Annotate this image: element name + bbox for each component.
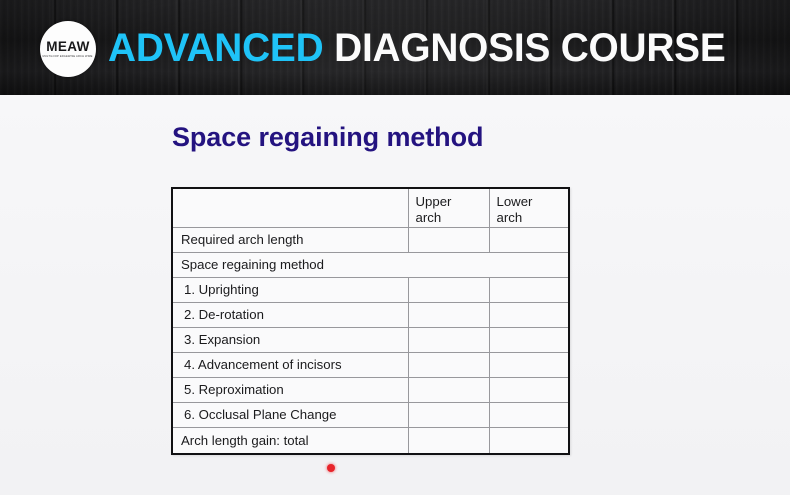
row-label: 3. Expansion: [173, 330, 408, 350]
row-label-cell: Arch length gain: total: [173, 428, 408, 453]
banner-title-accent: ADVANCED: [108, 26, 323, 71]
page-title: Space regaining method: [172, 122, 483, 153]
table-row: 1. Uprighting: [173, 278, 568, 303]
table-row: 5. Reproximation: [173, 378, 568, 403]
row-label: 1. Uprighting: [173, 280, 408, 300]
row-cell-upper-arch[interactable]: [408, 378, 489, 403]
row-label: Required arch length: [173, 230, 408, 250]
cell-value: [490, 438, 569, 442]
column-header-upper-arch: Upper arch: [408, 189, 489, 228]
cell-value: [490, 238, 569, 242]
cell-value: [409, 438, 489, 442]
row-label: Space regaining method: [173, 255, 568, 275]
cell-value: [409, 238, 489, 242]
row-label-cell: 3. Expansion: [173, 328, 408, 353]
row-cell-lower-arch[interactable]: [489, 353, 568, 378]
table-row: Arch length gain: total: [173, 428, 568, 453]
table-row: Space regaining method: [173, 253, 568, 278]
row-label-cell: 1. Uprighting: [173, 278, 408, 303]
row-label: Arch length gain: total: [173, 431, 408, 451]
row-label: 6. Occlusal Plane Change: [173, 405, 408, 425]
table-row: 2. De-rotation: [173, 303, 568, 328]
row-cell-upper-arch[interactable]: [408, 303, 489, 328]
row-cell-upper-arch[interactable]: [408, 403, 489, 428]
cell-value: [490, 313, 569, 317]
table-row: 6. Occlusal Plane Change: [173, 403, 568, 428]
slide-body: Space regaining method Upper archLower a…: [0, 95, 790, 495]
row-cell-upper-arch[interactable]: [408, 353, 489, 378]
cell-value: [409, 413, 489, 417]
banner-title: ADVANCED DIAGNOSIS COURSE: [108, 19, 726, 77]
cell-value: [490, 388, 569, 392]
row-cell-lower-arch[interactable]: [489, 228, 568, 253]
cursor-marker-icon: [327, 464, 335, 472]
cell-value: [490, 413, 569, 417]
row-cell-lower-arch[interactable]: [489, 403, 568, 428]
row-label: 4. Advancement of incisors: [173, 355, 408, 375]
row-cell-lower-arch[interactable]: [489, 378, 568, 403]
row-label-cell: 6. Occlusal Plane Change: [173, 403, 408, 428]
cell-value: [409, 288, 489, 292]
cell-value: [490, 288, 569, 292]
row-cell-lower-arch[interactable]: [489, 328, 568, 353]
row-label: 2. De-rotation: [173, 305, 408, 325]
table-body: Upper archLower archRequired arch length…: [173, 189, 568, 453]
row-label: 5. Reproximation: [173, 380, 408, 400]
cell-value: [409, 363, 489, 367]
row-label-cell: 4. Advancement of incisors: [173, 353, 408, 378]
row-cell-upper-arch[interactable]: [408, 428, 489, 453]
table-grid: Upper archLower archRequired arch length…: [173, 189, 568, 453]
cell-value: [490, 338, 569, 342]
row-cell-lower-arch[interactable]: [489, 303, 568, 328]
row-label-cell: 5. Reproximation: [173, 378, 408, 403]
row-cell-lower-arch[interactable]: [489, 428, 568, 453]
banner-title-plain: DIAGNOSIS COURSE: [334, 26, 725, 71]
logo-main-text: MEAW: [46, 40, 90, 54]
column-header-label: [173, 189, 408, 228]
cell-value: [409, 313, 489, 317]
row-cell-upper-arch[interactable]: [408, 278, 489, 303]
table-row: 3. Expansion: [173, 328, 568, 353]
row-label-cell: Space regaining method: [173, 253, 568, 278]
space-regaining-table: Upper archLower archRequired arch length…: [171, 187, 570, 455]
row-cell-upper-arch[interactable]: [408, 328, 489, 353]
cell-value: [409, 338, 489, 342]
row-label-cell: 2. De-rotation: [173, 303, 408, 328]
row-cell-upper-arch[interactable]: [408, 228, 489, 253]
cell-value: [409, 388, 489, 392]
logo-sub-text: MULTILOOP EDGEWISE ARCH WIRE: [43, 56, 93, 59]
table-row: Required arch length: [173, 228, 568, 253]
meaw-logo: MEAW MULTILOOP EDGEWISE ARCH WIRE: [40, 21, 96, 77]
page-header-banner: MEAW MULTILOOP EDGEWISE ARCH WIRE ADVANC…: [0, 0, 790, 95]
cell-value: [490, 363, 569, 367]
table-header-row: Upper archLower arch: [173, 189, 568, 228]
row-label-cell: Required arch length: [173, 228, 408, 253]
column-header-lower-arch: Lower arch: [489, 189, 568, 228]
row-cell-lower-arch[interactable]: [489, 278, 568, 303]
table-row: 4. Advancement of incisors: [173, 353, 568, 378]
